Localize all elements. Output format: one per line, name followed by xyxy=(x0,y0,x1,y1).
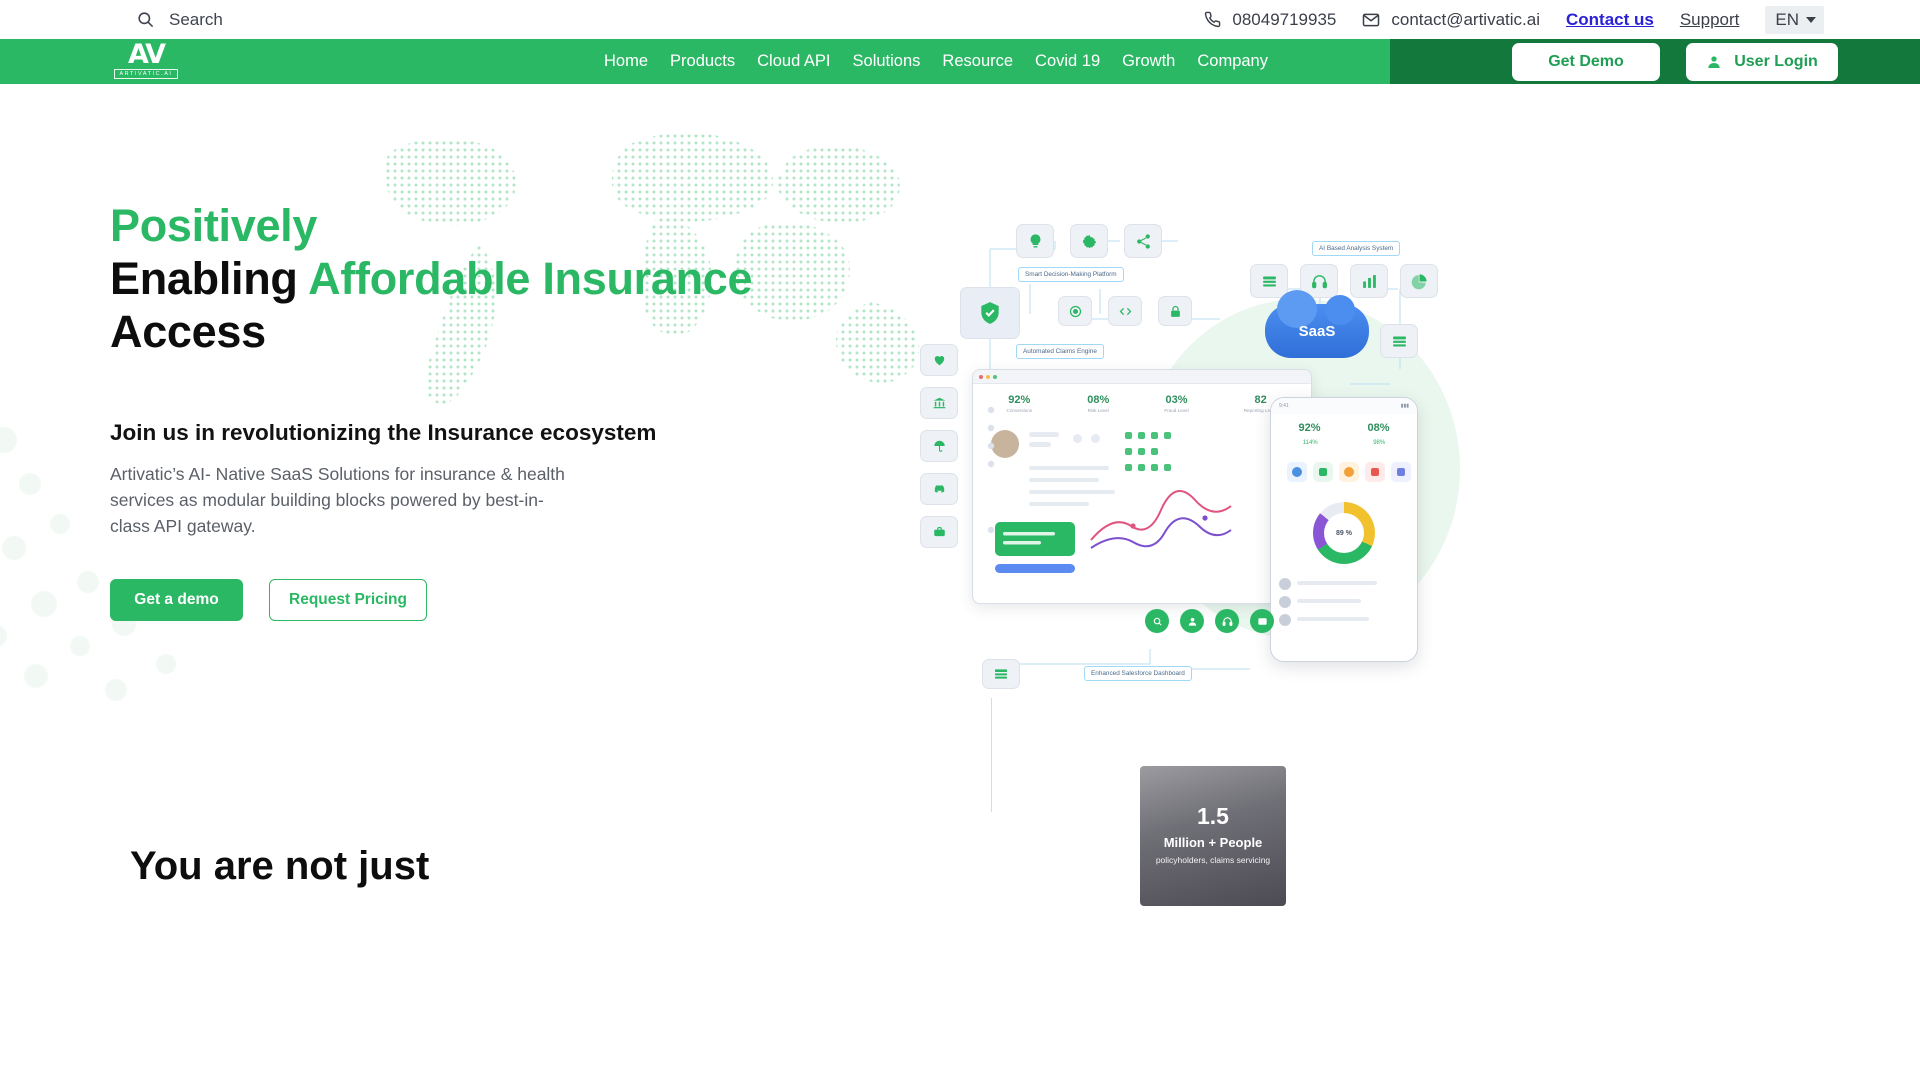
umbrella-icon-card xyxy=(920,430,958,462)
dashboard-body xyxy=(973,422,1312,602)
dashboard-kpi: 08%Risk Level xyxy=(1087,394,1109,413)
get-demo-label: Get Demo xyxy=(1548,53,1624,71)
hero-illustration: Smart Decision-Making Platform AI Based … xyxy=(920,169,1520,709)
donut-value: 89 % xyxy=(1324,513,1364,553)
kpi-value: 08% xyxy=(1367,422,1389,434)
illustration-action-buttons xyxy=(1145,609,1274,633)
hero-headline-line2a: Enabling xyxy=(110,253,308,304)
mail-icon xyxy=(1362,11,1380,29)
stat-title: Million + People xyxy=(1164,835,1263,850)
dashboard-sidebar xyxy=(983,400,999,580)
headset-icon-button xyxy=(1215,609,1239,633)
table-icon-card-3 xyxy=(982,659,1020,689)
get-a-demo-button[interactable]: Get a demo xyxy=(110,579,243,621)
phone-contact[interactable]: 08049719935 xyxy=(1204,10,1336,30)
stat-card: 1.5 Million + People policyholders, clai… xyxy=(1140,766,1286,906)
pie-icon-card xyxy=(1400,264,1438,298)
hero-copy: Positively Enabling Affordable Insurance… xyxy=(110,199,870,621)
illustration-side-buttons xyxy=(920,344,958,548)
kpi-delta: 98% xyxy=(1373,440,1385,446)
dashboard-titlebar xyxy=(973,370,1311,384)
dashboard-kpi: 03%Fraud Level xyxy=(1164,394,1188,413)
nav-item-covid-19[interactable]: Covid 19 xyxy=(1035,52,1100,71)
support-link[interactable]: Support xyxy=(1680,10,1740,30)
share-icon-card xyxy=(1124,224,1162,258)
hero-section: Positively Enabling Affordable Insurance… xyxy=(0,84,1920,724)
briefcase-icon-card xyxy=(920,516,958,548)
target-icon-card xyxy=(1058,296,1092,326)
phone-number[interactable]: 08049719935 xyxy=(1232,10,1336,30)
nav-item-cloud-api[interactable]: Cloud API xyxy=(757,52,830,71)
kpi-caption: Conversions xyxy=(1007,408,1033,413)
hero-headline-line2b: Affordable Insurance xyxy=(308,253,752,304)
nav-item-products[interactable]: Products xyxy=(670,52,735,71)
user-icon xyxy=(1706,54,1722,70)
bank-icon-card xyxy=(920,387,958,419)
phone-kpi: 08% xyxy=(1367,422,1389,434)
nav-menu: Home Products Cloud API Solutions Resour… xyxy=(604,39,1268,84)
kpi-value: 92% xyxy=(1298,422,1320,434)
kpi-caption: Risk Level xyxy=(1087,408,1109,413)
main-navigation: AV ARTIVATIC.AI Home Products Cloud API … xyxy=(0,39,1920,84)
table-icon-card xyxy=(1250,264,1288,298)
nav-item-company[interactable]: Company xyxy=(1197,52,1268,71)
hero-cta-group: Get a demo Request Pricing xyxy=(110,579,870,621)
user-login-label: User Login xyxy=(1734,53,1818,71)
search-plus-icon-button xyxy=(1145,609,1169,633)
phone-list xyxy=(1271,572,1418,632)
shield-icon-card xyxy=(960,287,1020,339)
search-area[interactable]: Search xyxy=(136,10,223,30)
dashboard-kpis: 92%Conversions 08%Risk Level 03%Fraud Le… xyxy=(973,384,1311,417)
saas-cloud: SaaS xyxy=(1265,304,1369,358)
phone-action-row xyxy=(1271,456,1418,490)
kpi-value: 92% xyxy=(1007,394,1033,406)
kpi-caption: Fraud Level xyxy=(1164,408,1188,413)
phone-kpi-delta: 114% xyxy=(1303,438,1318,446)
heart-icon-card xyxy=(920,344,958,376)
phone-kpi: 92% xyxy=(1298,422,1320,434)
idea-icon-card xyxy=(1016,224,1054,258)
kpi-value: 03% xyxy=(1164,394,1188,406)
user-login-button[interactable]: User Login xyxy=(1686,43,1838,81)
top-right-links: 08049719935 contact@artivatic.ai Contact… xyxy=(1204,6,1824,34)
get-demo-button[interactable]: Get Demo xyxy=(1512,43,1660,81)
lower-section: 1.5 Million + People policyholders, clai… xyxy=(0,724,1920,1080)
nav-item-solutions[interactable]: Solutions xyxy=(853,52,921,71)
search-icon[interactable] xyxy=(136,10,155,29)
nav-item-growth[interactable]: Growth xyxy=(1122,52,1175,71)
donut-chart: 89 % xyxy=(1313,502,1375,564)
hero-headline: Positively Enabling Affordable Insurance… xyxy=(110,199,870,358)
kpi-delta: 114% xyxy=(1303,440,1318,446)
tag-claims-engine: Automated Claims Engine xyxy=(1016,344,1104,359)
dashboard-kpi: 92%Conversions xyxy=(1007,394,1033,413)
language-selector[interactable]: EN xyxy=(1765,6,1824,34)
hero-paragraph: Artivatic’s AI- Native SaaS Solutions fo… xyxy=(110,462,580,539)
phone-kpi-delta: 98% xyxy=(1373,438,1385,446)
phone-kpis: 92% 08% xyxy=(1271,414,1417,436)
top-utility-bar: Search 08049719935 contact@artivatic.ai … xyxy=(0,0,1920,39)
email-address[interactable]: contact@artivatic.ai xyxy=(1391,10,1540,30)
vertical-divider xyxy=(991,698,992,812)
phone-statusbar: 9:41▮▮▮ xyxy=(1271,398,1417,414)
kpi-value: 08% xyxy=(1087,394,1109,406)
stat-number: 1.5 xyxy=(1197,805,1229,828)
tag-ai-analysis: AI Based Analysis System xyxy=(1312,241,1400,256)
code-icon-card xyxy=(1108,296,1142,326)
nav-item-resource[interactable]: Resource xyxy=(942,52,1013,71)
phone-kpi-deltas: 114% 98% xyxy=(1271,436,1417,448)
language-value: EN xyxy=(1775,10,1799,30)
hero-subtitle: Join us in revolutionizing the Insurance… xyxy=(110,420,870,446)
hero-headline-line1: Positively xyxy=(110,200,317,251)
nav-actions: Get Demo User Login xyxy=(1512,39,1838,84)
tag-smart-decision: Smart Decision-Making Platform xyxy=(1018,267,1124,282)
saas-cloud-label: SaaS xyxy=(1299,323,1336,340)
user-icon-button xyxy=(1180,609,1204,633)
request-pricing-button[interactable]: Request Pricing xyxy=(269,579,427,621)
contact-us-link[interactable]: Contact us xyxy=(1566,10,1654,30)
car-icon-card xyxy=(920,473,958,505)
dashboard-mockup: 92%Conversions 08%Risk Level 03%Fraud Le… xyxy=(972,369,1312,604)
hero-headline-line3: Access xyxy=(110,306,266,357)
logo[interactable]: AV ARTIVATIC.AI xyxy=(112,44,180,79)
chart-icon-card xyxy=(1350,264,1388,298)
tag-salesforce-dashboard: Enhanced Salesforce Dashboard xyxy=(1084,666,1192,681)
card-icon-button xyxy=(1250,609,1274,633)
stat-description: policyholders, claims servicing xyxy=(1156,855,1270,866)
logo-wordmark: ARTIVATIC.AI xyxy=(114,69,177,79)
lock-icon-card xyxy=(1158,296,1192,326)
phone-icon xyxy=(1204,11,1221,28)
chevron-down-icon xyxy=(1806,17,1816,23)
search-input-label[interactable]: Search xyxy=(169,10,223,30)
logo-mark: AV xyxy=(128,44,164,67)
settings-icon-card xyxy=(1070,224,1108,258)
nav-item-home[interactable]: Home xyxy=(604,52,648,71)
section-heading: You are not just xyxy=(130,844,429,889)
email-contact[interactable]: contact@artivatic.ai xyxy=(1362,10,1540,30)
table-icon-card-2 xyxy=(1380,324,1418,358)
phone-mockup: 9:41▮▮▮ 92% 08% 114% 98% 89 % xyxy=(1270,397,1418,662)
